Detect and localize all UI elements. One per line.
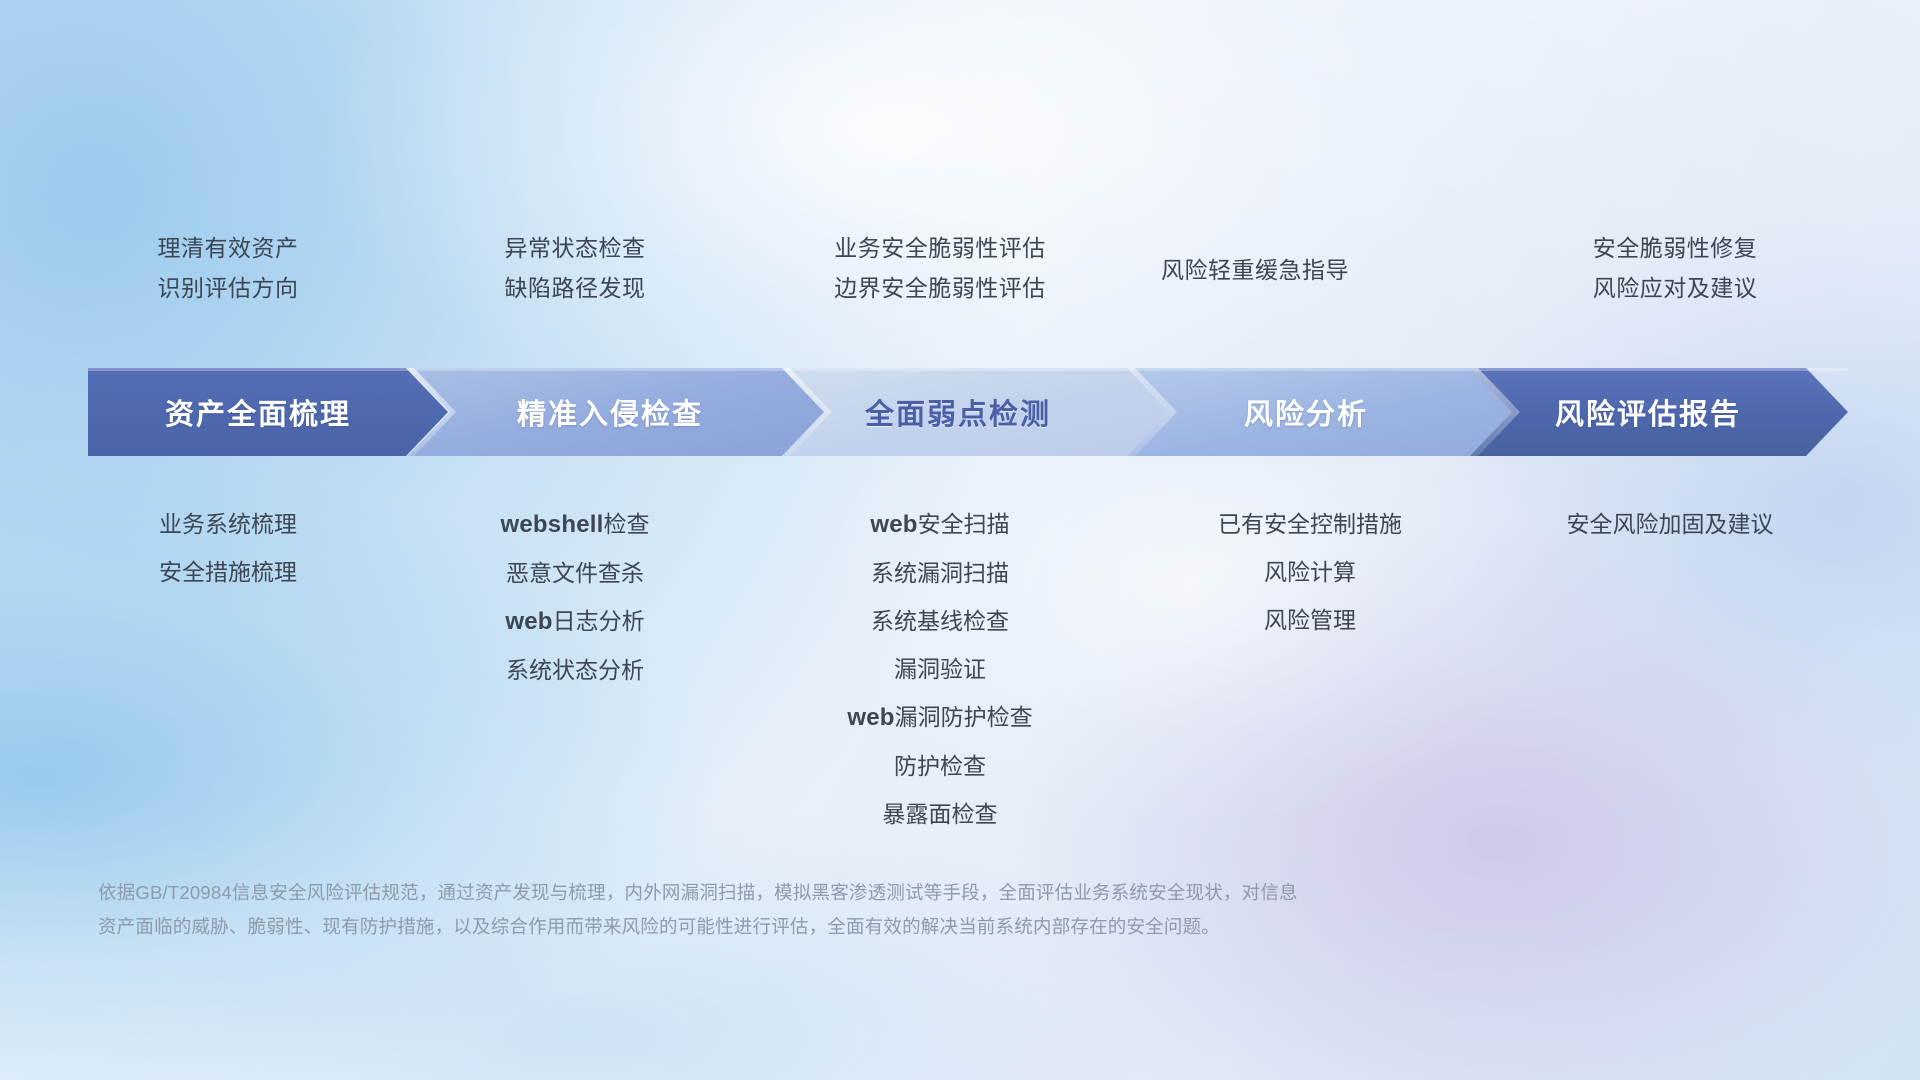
- footer-description: 依据GB/T20984信息安全风险评估规范，通过资产发现与梳理，内外网漏洞扫描，…: [98, 876, 1658, 944]
- list-item: web日志分析: [385, 597, 765, 646]
- list-item: 防护检查: [740, 742, 1140, 790]
- arrow-label-stage-4[interactable]: 风险分析: [1136, 368, 1476, 456]
- top-captions-stage-1: 理清有效资产 识别评估方向: [38, 228, 418, 308]
- top-caption-text: 风险轻重缓急指导: [1055, 250, 1455, 290]
- list-item: 恶意文件查杀: [385, 549, 765, 597]
- top-caption-row: 理清有效资产 识别评估方向 异常状态检查 缺陷路径发现 业务安全脆弱性评估 边界…: [0, 228, 1920, 338]
- list-item: web安全扫描: [740, 500, 1140, 549]
- list-item: 风险管理: [1110, 596, 1510, 644]
- list-item: 系统漏洞扫描: [740, 549, 1140, 597]
- bottom-list-stage-5: 安全风险加固及建议: [1450, 500, 1890, 548]
- top-captions-stage-5: 安全脆弱性修复 风险应对及建议: [1475, 228, 1875, 308]
- top-caption-text: 安全脆弱性修复: [1475, 228, 1875, 268]
- bottom-list-stage-2: webshell检查 恶意文件查杀 web日志分析 系统状态分析: [385, 500, 765, 694]
- list-item: 风险计算: [1110, 548, 1510, 596]
- list-item: 业务系统梳理: [38, 500, 418, 548]
- list-item: webshell检查: [385, 500, 765, 549]
- arrow-label-stage-2[interactable]: 精准入侵检查: [440, 368, 780, 456]
- arrow-label-stage-5[interactable]: 风险评估报告: [1478, 368, 1818, 456]
- footer-line-2: 资产面临的威胁、脆弱性、现有防护措施，以及综合作用而带来风险的可能性进行评估，全…: [98, 910, 1658, 944]
- arrow-label-stage-3[interactable]: 全面弱点检测: [788, 368, 1128, 456]
- list-item: 安全措施梳理: [38, 548, 418, 596]
- list-item: 暴露面检查: [740, 790, 1140, 838]
- slide-canvas: 理清有效资产 识别评估方向 异常状态检查 缺陷路径发现 业务安全脆弱性评估 边界…: [0, 0, 1920, 1080]
- process-arrow-band: 资产全面梳理 精准入侵检查 全面弱点检测 风险分析 风险评估报告: [88, 368, 1848, 456]
- list-item: web漏洞防护检查: [740, 693, 1140, 742]
- arrow-label-stage-1[interactable]: 资产全面梳理: [88, 368, 428, 456]
- list-item: 系统状态分析: [385, 646, 765, 694]
- list-item: 安全风险加固及建议: [1450, 500, 1890, 548]
- top-captions-stage-4: 风险轻重缓急指导: [1055, 250, 1455, 290]
- bottom-list-stage-3: web安全扫描 系统漏洞扫描 系统基线检查 漏洞验证 web漏洞防护检查 防护检…: [740, 500, 1140, 838]
- top-caption-text: 风险应对及建议: [1475, 268, 1875, 308]
- list-item: 系统基线检查: [740, 597, 1140, 645]
- bottom-list-stage-1: 业务系统梳理 安全措施梳理: [38, 500, 418, 596]
- list-item: 漏洞验证: [740, 645, 1140, 693]
- top-caption-text: 识别评估方向: [38, 268, 418, 308]
- footer-line-1: 依据GB/T20984信息安全风险评估规范，通过资产发现与梳理，内外网漏洞扫描，…: [98, 876, 1658, 910]
- top-caption-text: 理清有效资产: [38, 228, 418, 268]
